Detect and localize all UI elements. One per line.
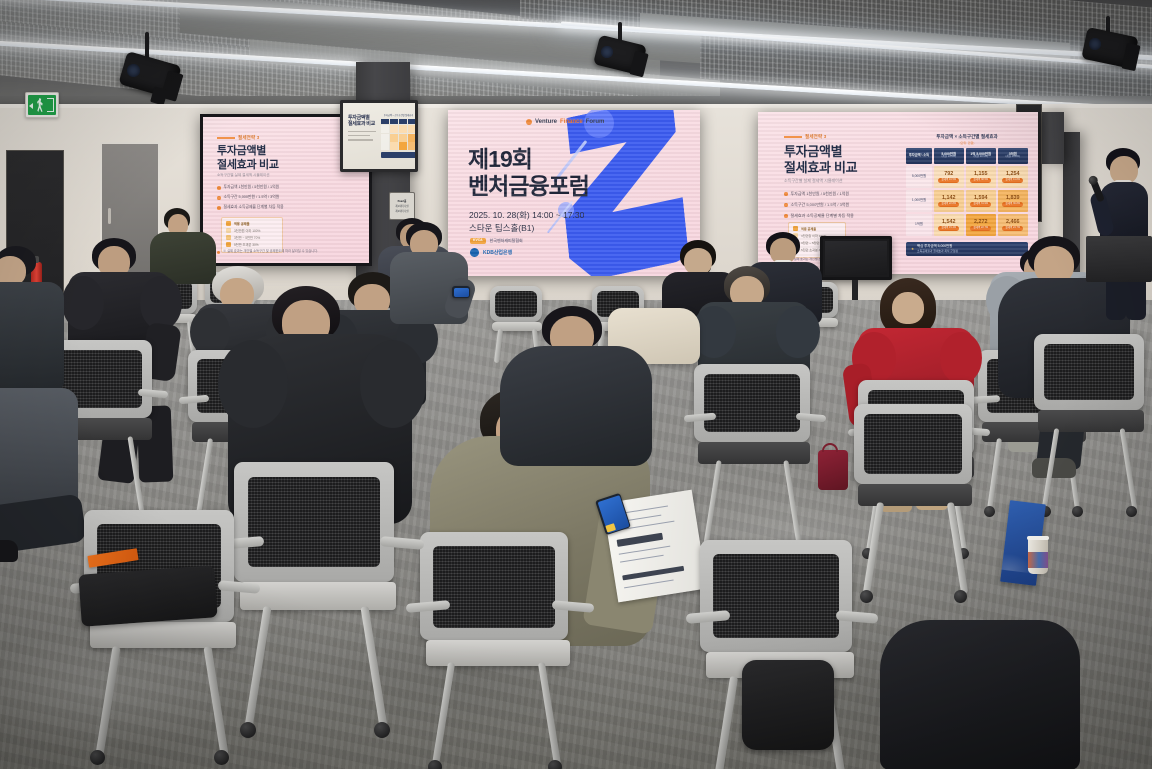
slide-bullet: 투자금액 1천만원 / 5천만원 / 1억원 [217,185,347,190]
conference-room-photo: 절세전략 3 투자금액별 절세효과 비교 소득구간별 실제 절세액 시뮬레이션 … [0,0,1152,769]
table-cell: 1,839 절세액 36.8% [998,190,1029,213]
sponsor-logos: KVCA 한국벤처캐피탈협회 KDB산업은행 [470,238,523,257]
legend-swatch [226,221,231,226]
legend-swatch [226,242,231,247]
table-column-header: 5,000만원 (세율 16.5%) [934,148,965,164]
slide-title: 투자금액별 절세효과 비교 [217,145,279,173]
table-cell: 1,254 절세액 41.8% [998,166,1029,189]
slide-legend: 적용 공제율 3천만원 이하 100% 3천만 ~ 5천만 70% 5천만 초과… [221,217,283,253]
logo-dot-icon [526,119,532,125]
table-cell: 792 절세액 16.5% [934,166,965,189]
footnote-dot-icon [217,251,220,254]
sponsor-row: KDB산업은행 [470,248,523,257]
legend-title-row: 적용 공제율 [226,221,278,226]
legend-item: 3천만원 이하 100% [226,228,278,233]
legend-title-row: 적용 공제율 [793,226,841,231]
table-column-header: 1억 5,000만원 (세율 38.5%) [966,148,997,164]
table-cell: 1,594 절세액 31.9% [966,190,997,213]
legend-swatch [226,235,231,240]
slide-kicker: 절세전략 3 [238,135,260,141]
center-projection-screen: Venture Finance Forum 제19회 벤처금융포럼 2025. … [448,110,700,276]
slide-kicker: 절세전략 3 [805,134,827,140]
slide-bullet: 소득구간 5,000만원 / 1.5억 / 3억원 [784,202,896,208]
paper-coffee-cup [1028,538,1048,574]
handbag [818,450,848,490]
confidence-monitor-pillar: 투자금액별 절세효과 비교 투자금액 × 소득구간별 절세효과 [340,100,418,172]
right-projection-screen: 절세전략 3 투자금액별 절세효과 비교 소득구간별 실제 절세액 시뮬레이션 … [758,112,1038,274]
stage-podium [1086,236,1152,282]
table-note-banner: ★ 핵심 투자금액 5,000만원 소득공제율과 절세효과 최적 균형점 [906,242,1028,256]
table-corner-header: 투자금액 \ 소득 [906,148,932,164]
bullet-dot-icon [217,206,221,210]
sponsor-name: 한국벤처캐피탈협회 [490,238,523,244]
legend-item: 3천만 ~ 5천만 70% [226,235,278,240]
table-row-header: 1,000만원 [906,190,932,213]
bullet-dot-icon [784,214,788,218]
slide-bullet: 절세효과 소득공제율 단계별 차등 적용 [784,213,896,219]
table-cell: 2,272 절세액 22.7% [966,214,997,237]
slide-bullet: 절세효과 소득공제율 단계별 차등 적용 [217,205,347,210]
room-directory-sign: Pearl홀 제1세미나실 제2세미나실 [389,192,415,220]
legend-swatch [226,228,231,233]
slide-bullet: 소득구간 5,000만원 / 1.5억 / 3억원 [217,195,347,200]
exit-sign [25,92,59,118]
table-title: 투자금액 × 소득구간별 절세효과 [906,134,1028,140]
sponsor-row: KVCA 한국벤처캐피탈협회 [470,238,523,244]
table-column-header: 3억원 (세율 41.8%) [998,148,1029,164]
slide-footnote: ※ 실제 효과는 개인별 소득구간 및 공제한도에 따라 달라질 수 있습니다. [217,249,337,254]
forum-title: 제19회 벤처금융포럼 [468,146,589,200]
slide-subtitle: 소득구간별 실제 절세액 시뮬레이션 [784,178,843,183]
bullet-dot-icon [217,196,221,200]
sponsor-name: KDB산업은행 [483,249,512,256]
legend-item: 5천만 초과분 30% [226,242,278,247]
legend-swatch [793,226,798,231]
star-icon: ★ [911,247,914,251]
table-cell: 1,142 절세액 22.8% [934,190,965,213]
bullet-dot-icon [784,203,788,207]
slide-bullet: 투자금액 1천만원 / 5천만원 / 1억원 [784,191,896,197]
table-cell: 1,155 절세액 38.5% [966,166,997,189]
monitor-table-title: 투자금액 × 소득구간별 절세효과 [381,113,416,117]
tablet-device [452,286,470,298]
slide-title: 투자금액별 절세효과 비교 [784,144,857,177]
slide-subtitle: 소득구간별 실제 절세액 시뮬레이션 [217,173,270,178]
table-subtitle: (단위: 만원) [906,141,1028,145]
forum-datetime-venue: 2025. 10. 28(화) 14:00 ~ 17:30 스타운 팁스홀(B1… [469,209,584,235]
confidence-monitor-stage [820,236,892,280]
sponsor-chip [470,248,479,257]
kicker-bar [217,137,235,139]
laptop-bag [78,565,217,626]
bullet-dot-icon [217,186,221,190]
forum-logo: Venture Finance Forum [526,119,604,125]
tax-saving-table: 투자금액 × 소득구간별 절세효과 (단위: 만원) 투자금액 \ 소득 5,0… [906,134,1028,258]
table-cell: 1,542 절세액 15.4% [934,214,965,237]
pillar-right-dark-panel [1042,112,1064,164]
bullet-dot-icon [784,192,788,196]
monitor-slide-title: 투자금액별 절세효과 비교 [348,115,375,128]
table-row-header: 1억원 [906,214,932,237]
sponsor-chip: KVCA [470,238,486,243]
table-cell: 2,466 절세액 24.7% [998,214,1029,237]
table-row-header: 5,000만원 [906,166,932,189]
floor-bag-right [742,660,834,750]
kicker-bar [784,136,802,138]
